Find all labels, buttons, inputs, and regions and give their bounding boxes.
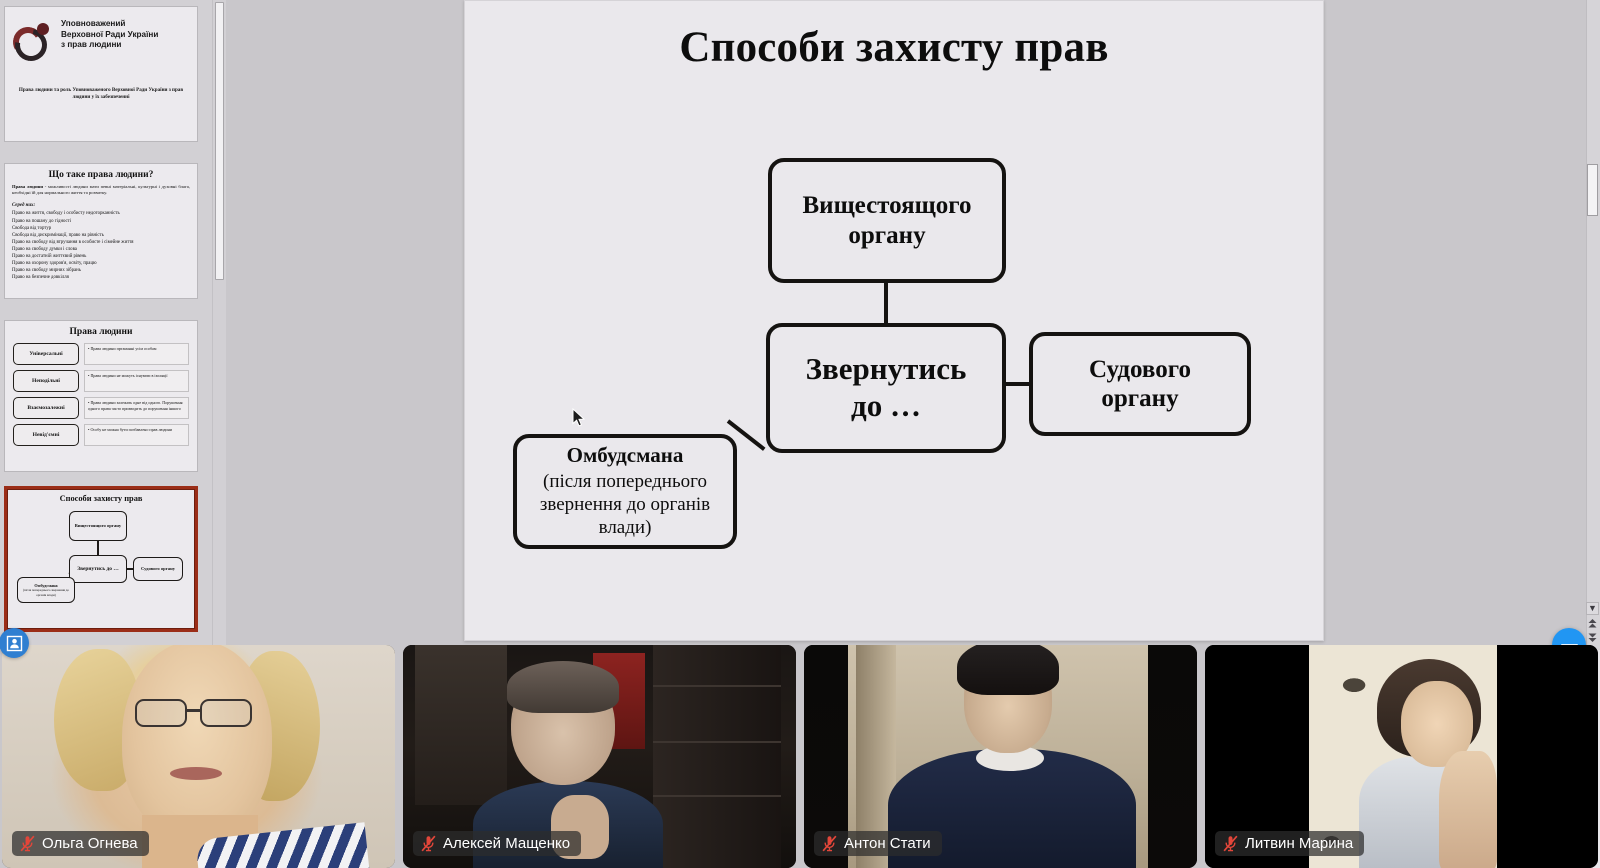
microphone-muted-icon	[822, 835, 837, 852]
slide4-diagram: Вищестоящого органу Звернутись до … Судо…	[7, 507, 195, 603]
participant-name-chip: Антон Стати	[814, 831, 942, 856]
slide3-row-key: Невід'ємні	[13, 424, 79, 446]
slide2-list-item: Свобода від тортур	[12, 225, 190, 232]
slide2-list-item: Право на свободу від втручання в особист…	[12, 239, 190, 246]
ombudsman-title: Омбудсмана	[567, 443, 684, 468]
slide-thumbnail-panel[interactable]: Уповноважений Верховної Ради України з п…	[0, 0, 212, 650]
slide2-list: Право на життя, свободу і особисту недот…	[5, 210, 197, 281]
slide4-box-apply: Звернутись до …	[69, 555, 127, 583]
double-chevron-up-icon	[1587, 618, 1598, 629]
diagram-box-court-authority: Судового органу	[1029, 332, 1251, 436]
video-tile-4[interactable]: Литвин Марина	[1205, 645, 1598, 868]
slide-title: Способи захисту прав	[465, 23, 1323, 72]
current-slide[interactable]: Способи захисту прав Вищестоящого органу…	[464, 0, 1324, 641]
stage-scrollbar-track[interactable]	[1586, 0, 1600, 650]
diagram-box-ombudsman: Омбудсмана (після попереднього звернення…	[513, 434, 737, 549]
video-tile-3[interactable]: Антон Стати	[804, 645, 1197, 868]
next-slide-icon[interactable]	[1586, 631, 1599, 644]
chevron-down-icon[interactable]: ▼	[1586, 602, 1599, 615]
participant-name-chip: Литвин Марина	[1215, 831, 1364, 856]
microphone-muted-icon	[421, 835, 436, 852]
slide3-rows: Універсальні• Права людини пртаманні усі…	[5, 343, 197, 446]
slide3-row-value: • Особу не можна бути позбавлено прав лю…	[84, 424, 189, 446]
slide3-row-value: • Права людини не можуть існувати в ізол…	[84, 370, 189, 392]
participant-video-strip: Ольга Огнева Алексей Мащенко	[0, 645, 1600, 868]
slide2-lead: Права людини - можливості людини мати пе…	[12, 184, 190, 196]
slide-thumbnail-4[interactable]: Способи захисту прав Вищестоящого органу…	[4, 486, 198, 632]
participant-name: Ольга Огнева	[42, 835, 138, 852]
slide3-row-key: Взаємозалежні	[13, 397, 79, 419]
slide3-row-value: • Права людини пртаманні усім особам	[84, 343, 189, 365]
participants-button[interactable]	[0, 628, 29, 658]
slide2-list-item: Право на свободу думки і слова	[12, 246, 190, 253]
participant-name: Литвин Марина	[1245, 835, 1353, 852]
slide-thumbnail-2[interactable]: Що таке права людини? Права людини - мож…	[4, 163, 198, 299]
slide3-row-key: Неподільні	[13, 370, 79, 392]
slide3-row: Взаємозалежні• Права людини залежать одн…	[13, 397, 189, 419]
slide2-list-item: Свобода від дискримінації, право на рівн…	[12, 232, 190, 239]
slide3-heading: Права людини	[5, 327, 197, 337]
slide2-list-item: Право на достатній життєвий рівень	[12, 253, 190, 260]
ombudsman-note: (після попереднього звернення до органів…	[525, 471, 725, 539]
slide4-box-court: Судового органу	[133, 557, 183, 581]
participant-name: Алексей Мащенко	[443, 835, 570, 852]
participant-icon	[6, 635, 23, 652]
microphone-muted-icon	[20, 835, 35, 852]
previous-slide-icon[interactable]	[1586, 617, 1599, 630]
stage-scrollbar-thumb[interactable]	[1587, 164, 1598, 216]
thumbnail-panel-scrollbar-thumb[interactable]	[215, 2, 224, 280]
slide-thumbnail-1[interactable]: Уповноважений Верховної Ради України з п…	[4, 6, 198, 142]
slide-thumbnail-3[interactable]: Права людини Універсальні• Права людини …	[4, 320, 198, 472]
presentation-stage: Способи захисту прав Вищестоящого органу…	[226, 0, 1600, 650]
participant-name-chip: Алексей Мащенко	[413, 831, 581, 856]
diagram-box-higher-authority: Вищестоящого органу	[768, 158, 1006, 283]
slide3-row-value: • Права людини залежать одне від одного.…	[84, 397, 189, 419]
slide3-row-key: Універсальні	[13, 343, 79, 365]
slide2-list-item: Право на життя, свободу і особисту недот…	[12, 210, 190, 217]
slide2-list-item: Право на пошану до гідності	[12, 218, 190, 225]
connector-apply-to-court	[1006, 382, 1030, 386]
slide1-subtitle: Права людини та роль Уповноваженого Верх…	[15, 87, 187, 101]
microphone-muted-icon	[1223, 835, 1238, 852]
participant-name: Антон Стати	[844, 835, 931, 852]
slide2-list-item: Право на безпечне довкілля	[12, 274, 190, 281]
slide4-heading: Способи захисту прав	[7, 494, 195, 503]
slide2-list-item: Право на охорону здоров'я, освіту, працю	[12, 260, 190, 267]
participant-name-chip: Ольга Огнева	[12, 831, 149, 856]
slide3-row: Невід'ємні• Особу не можна бути позбавле…	[13, 424, 189, 446]
slide3-row: Універсальні• Права людини пртаманні усі…	[13, 343, 189, 365]
diagram-box-apply-to: Звернутись до …	[766, 323, 1006, 453]
double-chevron-down-icon	[1587, 632, 1598, 643]
logo-text: Уповноважений Верховної Ради України з п…	[61, 19, 193, 51]
slide4-box-ombudsman: Омбудсмана (після попереднього звернення…	[17, 577, 75, 603]
ombudsman-logo-icon	[13, 21, 57, 65]
connector-higher-to-apply	[884, 283, 888, 323]
slide3-row: Неподільні• Права людини не можуть існув…	[13, 370, 189, 392]
slide4-box-higher: Вищестоящого органу	[69, 511, 127, 541]
slide2-heading: Що таке права людини?	[5, 170, 197, 180]
slide2-list-item: Право на свободу мирних зібрань	[12, 267, 190, 274]
slide2-subheading: Серед них:	[12, 203, 190, 208]
video-tile-1[interactable]: Ольга Огнева	[2, 645, 395, 868]
video-tile-2[interactable]: Алексей Мащенко	[403, 645, 796, 868]
